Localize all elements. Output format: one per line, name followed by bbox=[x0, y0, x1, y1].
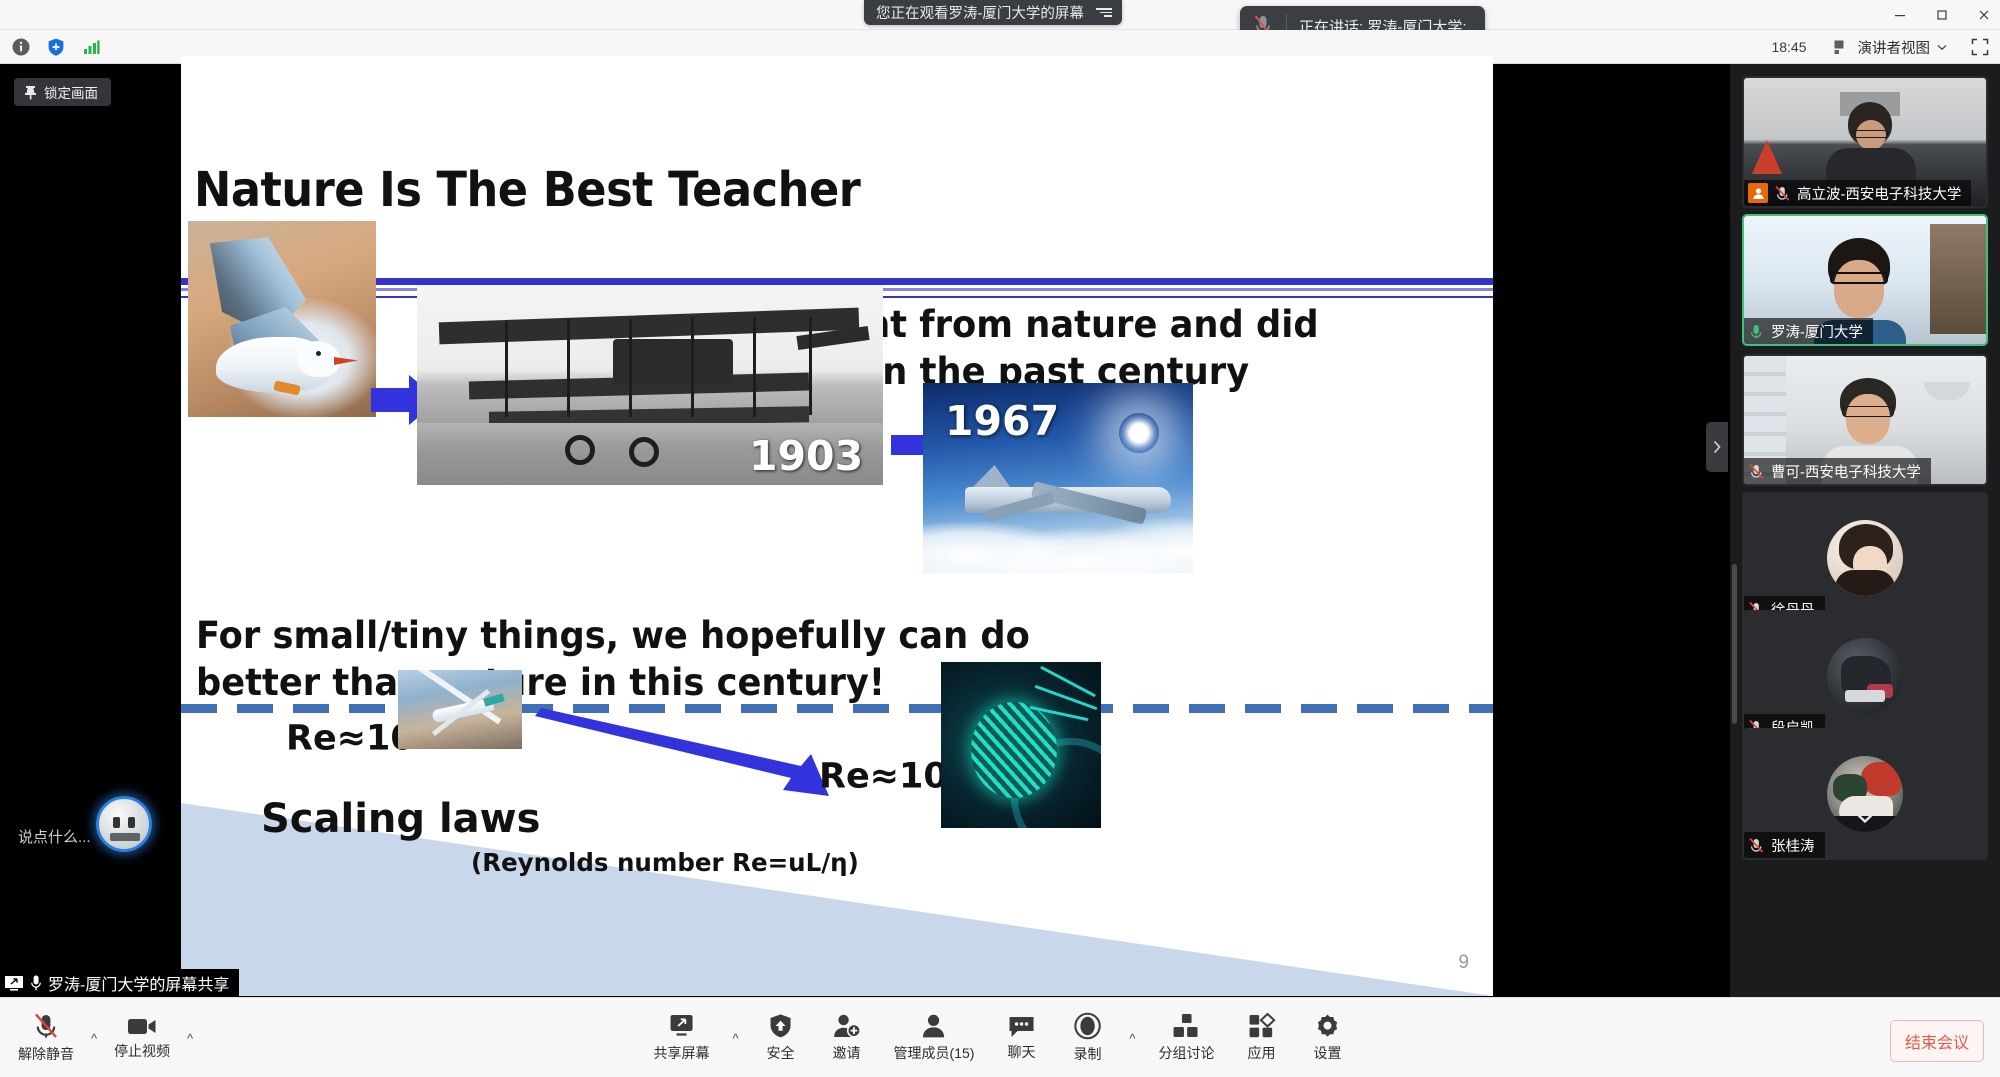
close-icon[interactable] bbox=[1976, 7, 1992, 23]
breakout-rooms-icon bbox=[1172, 1013, 1200, 1039]
mic-muted-icon bbox=[1748, 837, 1765, 854]
person-add-icon bbox=[833, 1013, 861, 1039]
maximize-icon[interactable] bbox=[1934, 7, 1950, 23]
year-label-1903: 1903 bbox=[749, 432, 863, 480]
shared-screen-stage: 锁定画面 Nature Is The Best Teacher For big … bbox=[0, 64, 1730, 997]
participant-name-1: 罗涛-厦门大学 bbox=[1771, 321, 1863, 342]
video-options-caret[interactable]: ^ bbox=[182, 1002, 198, 1074]
chat-button[interactable]: 聊天 bbox=[992, 1010, 1050, 1066]
mic-icon bbox=[30, 974, 42, 992]
record-options-caret[interactable]: ^ bbox=[1124, 1002, 1140, 1074]
participant-tile-0[interactable]: 高立波-西安电子科技大学 bbox=[1742, 76, 1988, 208]
record-label: 录制 bbox=[1073, 1044, 1101, 1064]
lock-screen-label: 锁定画面 bbox=[44, 82, 98, 102]
apps-icon bbox=[1247, 1013, 1275, 1039]
person-icon bbox=[921, 1013, 947, 1039]
gear-icon bbox=[1314, 1013, 1340, 1039]
seagull-photo bbox=[188, 221, 376, 417]
slide-rule-top bbox=[181, 278, 1493, 285]
participant-name-0: 高立波-西安电子科技大学 bbox=[1797, 183, 1961, 204]
panel-scrollbar[interactable] bbox=[1732, 564, 1737, 724]
minimize-icon[interactable] bbox=[1892, 7, 1908, 23]
unmute-label: 解除静音 bbox=[18, 1044, 74, 1064]
slide-paragraph-small-things: For small/tiny things, we hopefully can … bbox=[196, 612, 1042, 705]
lock-screen-button[interactable]: 锁定画面 bbox=[14, 78, 111, 106]
view-mode-label: 演讲者视图 bbox=[1858, 37, 1931, 58]
settings-label: 设置 bbox=[1313, 1043, 1341, 1063]
viewing-share-label: 您正在观看罗涛-厦门大学的屏幕 bbox=[876, 2, 1084, 23]
participant-tile-3[interactable]: 徐丹丹 bbox=[1742, 492, 1988, 624]
reynolds-formula-note: (Reynolds number Re=uL/η) bbox=[471, 848, 859, 877]
participant-namebar-5: 张桂涛 bbox=[1744, 832, 1825, 858]
scaling-arrow bbox=[533, 708, 831, 800]
chevron-right-icon[interactable] bbox=[1706, 422, 1728, 472]
security-button[interactable]: 安全 bbox=[752, 1009, 810, 1067]
participant-tile-1[interactable]: 罗涛-厦门大学 bbox=[1742, 214, 1988, 346]
pin-icon bbox=[24, 85, 37, 100]
end-meeting-button[interactable]: 结束会议 bbox=[1890, 1020, 1984, 1062]
apps-button[interactable]: 应用 bbox=[1232, 1009, 1290, 1067]
invite-button[interactable]: 邀请 bbox=[818, 1009, 876, 1067]
record-button[interactable]: 录制 bbox=[1058, 1008, 1116, 1068]
presentation-slide: Nature Is The Best Teacher For big thing… bbox=[181, 56, 1493, 996]
unmute-button[interactable]: 解除静音 bbox=[8, 1008, 84, 1068]
share-screen-label: 共享屏幕 bbox=[654, 1043, 710, 1063]
reynolds-large-prefix: Re≈10 bbox=[286, 719, 415, 759]
participant-tile-5[interactable]: 张桂涛 bbox=[1742, 728, 1988, 860]
participant-tile-2[interactable]: 曹可-西安电子科技大学 bbox=[1742, 354, 1988, 486]
screen-share-label: 罗涛-厦门大学的屏幕共享 bbox=[48, 971, 229, 995]
shield-up-icon bbox=[768, 1013, 794, 1039]
participant-namebar-1: 罗涛-厦门大学 bbox=[1744, 318, 1873, 344]
zoom-meeting-window: 您正在观看罗涛-厦门大学的屏幕 正在讲话: 罗涛-厦门大学; bbox=[0, 0, 2000, 1077]
info-icon[interactable] bbox=[8, 34, 34, 60]
meeting-clock: 18:45 bbox=[1765, 37, 1812, 57]
breakout-rooms-button[interactable]: 分组讨论 bbox=[1148, 1009, 1224, 1067]
stop-video-button[interactable]: 停止视频 bbox=[104, 1011, 180, 1065]
audio-options-caret[interactable]: ^ bbox=[86, 1002, 102, 1074]
view-mode-selector[interactable]: 演讲者视图 bbox=[1827, 34, 1955, 61]
microorganism-photo bbox=[941, 662, 1101, 828]
invite-label: 邀请 bbox=[833, 1043, 861, 1063]
participant-name-5: 张桂涛 bbox=[1771, 835, 1815, 856]
toolbar-left-group: 解除静音 ^ 停止视频 ^ bbox=[8, 1002, 198, 1074]
participant-namebar-0: 高立波-西安电子科技大学 bbox=[1744, 180, 1971, 206]
meeting-toolbar: 解除静音 ^ 停止视频 ^ 共享屏幕 ^ bbox=[0, 997, 2000, 1077]
scaling-laws-label: Scaling laws bbox=[261, 796, 540, 842]
record-circle-icon bbox=[1073, 1012, 1101, 1040]
chevron-down-icon bbox=[1937, 44, 1947, 51]
slide-dashed-divider bbox=[181, 704, 1493, 713]
share-options-caret[interactable]: ^ bbox=[728, 1002, 744, 1074]
manage-participants-button[interactable]: 管理成员(15) bbox=[884, 1009, 985, 1067]
breakout-rooms-label: 分组讨论 bbox=[1158, 1043, 1214, 1063]
screen-share-indicator: 罗涛-厦门大学的屏幕共享 bbox=[0, 969, 239, 997]
avatar bbox=[1827, 520, 1903, 596]
chat-placeholder-text: 说点什么... bbox=[18, 826, 91, 847]
avatar bbox=[1827, 638, 1903, 714]
chat-label: 聊天 bbox=[1007, 1042, 1035, 1062]
video-camera-icon bbox=[127, 1015, 157, 1037]
manage-participants-label: 管理成员(15) bbox=[894, 1043, 975, 1063]
mic-muted-icon bbox=[32, 1012, 60, 1040]
share-screen-button[interactable]: 共享屏幕 bbox=[644, 1009, 720, 1067]
chat-bubble-icon bbox=[1007, 1014, 1035, 1038]
participant-tile-4[interactable]: 段启凯 bbox=[1742, 610, 1988, 742]
toolbar-center-group: 共享屏幕 ^ 安全 邀请 管理成员(15) bbox=[644, 1002, 1357, 1074]
slide-title: Nature Is The Best Teacher bbox=[194, 162, 860, 218]
chevron-down-icon[interactable] bbox=[1852, 809, 1878, 825]
statusbar-right-group: 18:45 演讲者视图 bbox=[1765, 30, 1992, 64]
year-label-1967: 1967 bbox=[945, 397, 1059, 445]
shield-icon[interactable] bbox=[43, 34, 69, 60]
participant-name-2: 曹可-西安电子科技大学 bbox=[1771, 461, 1921, 482]
statusbar-left-group bbox=[8, 30, 104, 64]
chat-quick-input[interactable]: 说点什么... ‹ bbox=[10, 826, 123, 847]
window-controls bbox=[1892, 0, 1992, 30]
security-label: 安全 bbox=[767, 1043, 795, 1063]
host-badge-icon bbox=[1748, 183, 1768, 203]
participants-panel: 高立波-西安电子科技大学 罗涛-厦门大学 bbox=[1730, 64, 2000, 997]
reynolds-small-prefix: Re≈10 bbox=[819, 757, 948, 797]
slide-number: 9 bbox=[1458, 952, 1469, 974]
signal-bars-icon[interactable] bbox=[78, 34, 104, 60]
stop-video-label: 停止视频 bbox=[114, 1041, 170, 1061]
screen-share-icon bbox=[667, 1013, 697, 1039]
mic-active-icon bbox=[1748, 323, 1765, 340]
fullscreen-icon[interactable] bbox=[1968, 35, 1992, 59]
small-jet-photo bbox=[398, 670, 522, 749]
viewing-share-banner[interactable]: 您正在观看罗涛-厦门大学的屏幕 bbox=[864, 0, 1122, 25]
screen-share-icon bbox=[4, 974, 24, 992]
speaker-view-icon bbox=[1834, 40, 1851, 55]
emoji-face-icon[interactable] bbox=[96, 796, 152, 852]
mic-muted-icon bbox=[1748, 463, 1765, 480]
hamburger-icon[interactable] bbox=[1096, 8, 1112, 17]
mic-muted-icon bbox=[1774, 185, 1791, 202]
settings-button[interactable]: 设置 bbox=[1298, 1009, 1356, 1067]
participant-namebar-2: 曹可-西安电子科技大学 bbox=[1744, 458, 1931, 484]
apps-label: 应用 bbox=[1247, 1043, 1275, 1063]
